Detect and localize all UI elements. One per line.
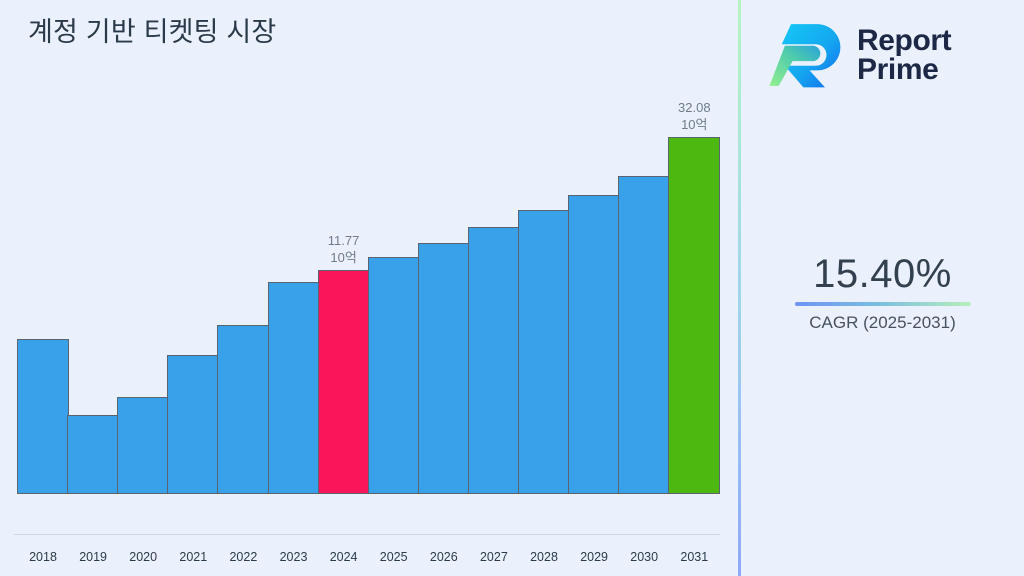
axis-baseline [14,534,720,535]
bar-2027 [468,227,520,494]
bar-2025 [368,257,420,494]
x-axis-tick-2024: 2024 [318,550,370,564]
brand-name-line2: Prime [857,53,938,86]
cagr-block: 15.40% CAGR (2025-2031) [741,250,1024,334]
chart-panel: 계정 기반 티켓팅 시장 11.7710억32.0810억 2018201920… [0,0,738,576]
brand-lockup: Report Prime [769,14,1001,96]
bar-value-number-2031: 32.08 [660,99,728,116]
cagr-caption: CAGR (2025-2031) [741,312,1024,334]
x-axis-tick-2025: 2025 [368,550,420,564]
plot-area: 11.7710억32.0810억 [0,0,738,536]
bar-value-number-2024: 11.77 [310,232,378,249]
bar-2028 [518,210,570,494]
x-axis-tick-2019: 2019 [67,550,119,564]
bar-2022 [217,325,269,494]
x-axis-tick-2023: 2023 [268,550,320,564]
brand-name: Report Prime [857,26,951,85]
bar-2031 [668,137,720,494]
cagr-divider-rule [795,302,971,306]
chart-infographic: 계정 기반 티켓팅 시장 11.7710억32.0810억 2018201920… [0,0,1024,576]
bar-value-label-2031: 32.0810억 [660,99,728,133]
bar-2023 [268,282,320,494]
bar-2024 [318,270,370,494]
cagr-value: 15.40% [741,250,1024,298]
bar-2030 [618,176,670,494]
bar-2026 [418,243,470,494]
x-axis-tick-2020: 2020 [117,550,169,564]
bar-2020 [117,397,169,494]
bar-2018 [17,339,69,494]
x-axis-tick-2028: 2028 [518,550,570,564]
side-panel: Report Prime 15.40% CAGR (2025-2031) [741,0,1024,576]
x-axis-tick-2030: 2030 [618,550,670,564]
x-axis-tick-2018: 2018 [17,550,69,564]
bar-2019 [67,415,119,494]
x-axis-tick-2027: 2027 [468,550,520,564]
x-axis-tick-2021: 2021 [167,550,219,564]
x-axis-tick-2031: 2031 [668,550,720,564]
report-prime-logo-icon [769,18,847,92]
bar-2021 [167,355,219,494]
x-axis-tick-2029: 2029 [568,550,620,564]
bar-2029 [568,195,620,494]
x-axis-tick-2022: 2022 [217,550,269,564]
x-axis-tick-2026: 2026 [418,550,470,564]
bar-value-unit-2031: 10억 [660,116,728,133]
brand-name-line1: Report [857,24,951,57]
